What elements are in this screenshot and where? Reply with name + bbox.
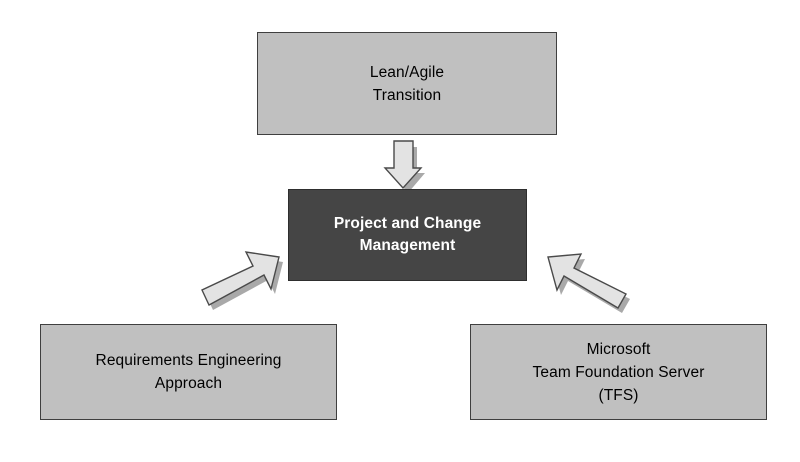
node-lean-agile-transition[interactable]: Lean/Agile Transition — [257, 32, 557, 135]
diagram-canvas: Lean/Agile Transition Project and Change… — [0, 0, 800, 462]
node-requirements-engineering[interactable]: Requirements Engineering Approach — [40, 324, 337, 420]
node-label-requirements-engineering: Requirements Engineering Approach — [96, 349, 282, 395]
node-microsoft-tfs[interactable]: Microsoft Team Foundation Server (TFS) — [470, 324, 767, 420]
block-arrow-up-right-icon — [202, 252, 283, 310]
node-label-microsoft-tfs: Microsoft Team Foundation Server (TFS) — [533, 338, 705, 407]
block-arrow-up-left-icon — [548, 254, 630, 313]
node-project-change-management[interactable]: Project and Change Management — [288, 189, 527, 281]
node-label-project-change-management: Project and Change Management — [334, 213, 481, 257]
block-arrow-down-icon — [385, 141, 425, 193]
node-label-lean-agile-transition: Lean/Agile Transition — [370, 61, 444, 107]
